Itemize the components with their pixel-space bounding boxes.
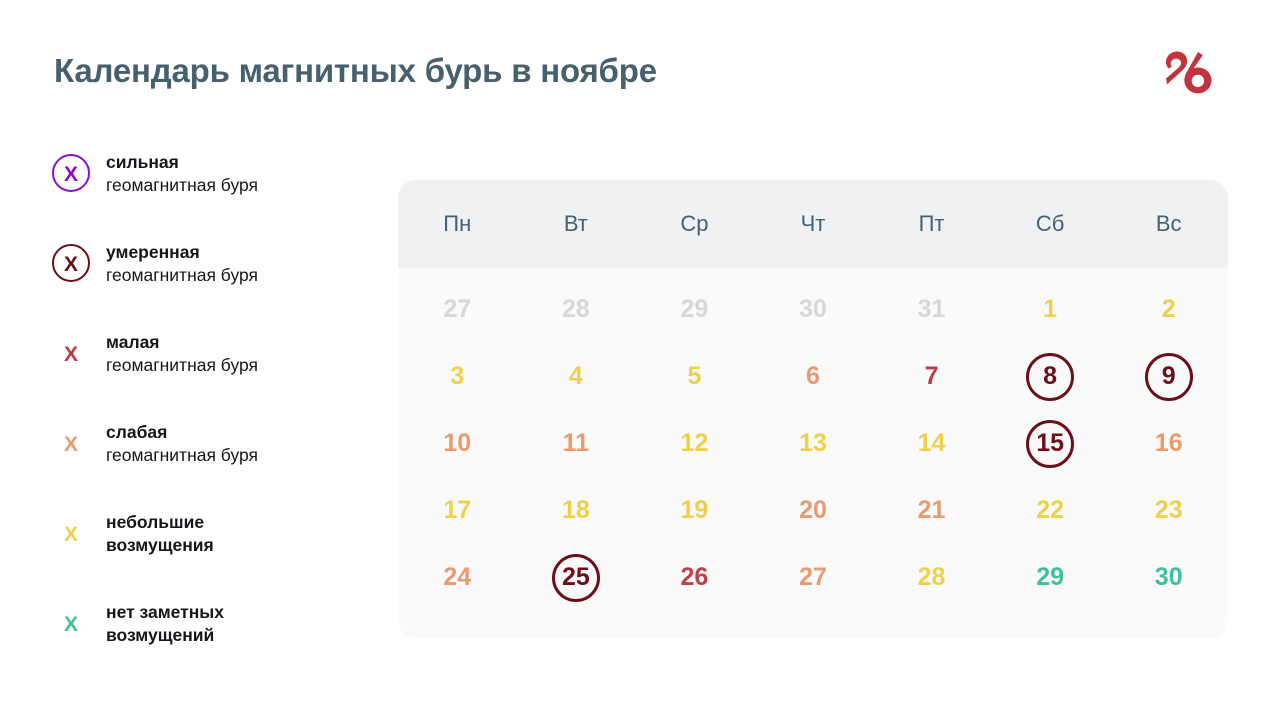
legend-subtitle: геомагнитная буря (106, 174, 258, 197)
calendar-day-cell[interactable]: 6 (754, 343, 873, 410)
calendar-day-cell[interactable]: 27 (754, 544, 873, 611)
calendar-day-cell[interactable]: 5 (635, 343, 754, 410)
legend-title: нет заметных (106, 601, 224, 624)
calendar-week-row: 3456789 (398, 343, 1228, 410)
calendar-day-cell[interactable]: 22 (991, 477, 1110, 544)
legend-marker-strong: X (50, 152, 96, 198)
calendar-day-cell[interactable]: 1 (991, 276, 1110, 343)
calendar-day-number: 5 (670, 353, 718, 401)
calendar-day-cell[interactable]: 4 (517, 343, 636, 410)
calendar-day-number: 17 (433, 487, 481, 535)
legend-label: малая геомагнитная буря (96, 330, 258, 378)
legend-x-icon: X (64, 164, 78, 185)
calendar-grid: 2728293031123456789101112131415161718192… (398, 268, 1228, 611)
legend-marker-minor: X (50, 332, 96, 378)
weekday-tue: Вт (517, 211, 636, 237)
legend-title: малая (106, 331, 258, 354)
calendar-day-number: 22 (1026, 487, 1074, 535)
calendar-day-number: 24 (433, 554, 481, 602)
calendar-day-cell[interactable]: 3 (398, 343, 517, 410)
calendar-day-number: 1 (1026, 286, 1074, 334)
calendar-weekday-header: Пн Вт Ср Чт Пт Сб Вс (398, 180, 1228, 268)
legend-title: сильная (106, 151, 258, 174)
calendar-day-cell[interactable]: 9 (1109, 343, 1228, 410)
calendar-day-number: 7 (908, 353, 956, 401)
calendar-day-number: 25 (552, 554, 600, 602)
weekday-sun: Вс (1109, 211, 1228, 237)
legend-label: умеренная геомагнитная буря (96, 240, 258, 288)
legend-subtitle: геомагнитная буря (106, 264, 258, 287)
legend-item: X умеренная геомагнитная буря (50, 240, 370, 330)
calendar-panel: Пн Вт Ср Чт Пт Сб Вс 2728293031123456789… (398, 180, 1228, 638)
legend-subtitle: возмущений (106, 624, 224, 647)
calendar-day-number: 11 (552, 420, 600, 468)
legend-subtitle: геомагнитная буря (106, 354, 258, 377)
legend-item: X нет заметных возмущений (50, 600, 370, 690)
calendar-day-number: 30 (789, 286, 837, 334)
calendar-day-number: 21 (908, 487, 956, 535)
calendar-day-number: 31 (908, 286, 956, 334)
legend-item: X сильная геомагнитная буря (50, 150, 370, 240)
calendar-day-cell[interactable]: 2 (1109, 276, 1228, 343)
calendar-day-number: 18 (552, 487, 600, 535)
calendar-day-cell[interactable]: 28 (872, 544, 991, 611)
legend-marker-weak: X (50, 422, 96, 468)
calendar-day-cell[interactable]: 11 (517, 410, 636, 477)
calendar-day-cell[interactable]: 17 (398, 477, 517, 544)
legend-x-icon: X (64, 614, 78, 635)
calendar-day-cell[interactable]: 21 (872, 477, 991, 544)
legend-label: небольшие возмущения (96, 510, 214, 558)
calendar-day-cell[interactable]: 19 (635, 477, 754, 544)
calendar-day-number: 29 (1026, 554, 1074, 602)
brand-logo-26-icon (1158, 46, 1232, 104)
legend-title: небольшие (106, 511, 214, 534)
calendar-day-cell[interactable]: 25 (517, 544, 636, 611)
calendar-day-cell[interactable]: 15 (991, 410, 1110, 477)
legend-x-icon: X (64, 344, 78, 365)
calendar-day-cell[interactable]: 8 (991, 343, 1110, 410)
calendar-week-row: 17181920212223 (398, 477, 1228, 544)
calendar-day-number: 14 (908, 420, 956, 468)
calendar-day-number: 9 (1145, 353, 1193, 401)
calendar-week-row: 24252627282930 (398, 544, 1228, 611)
calendar-day-cell[interactable]: 29 (635, 276, 754, 343)
legend-item: X малая геомагнитная буря (50, 330, 370, 420)
calendar-day-number: 15 (1026, 420, 1074, 468)
calendar-day-cell[interactable]: 14 (872, 410, 991, 477)
calendar-day-cell[interactable]: 31 (872, 276, 991, 343)
legend-item: X слабая геомагнитная буря (50, 420, 370, 510)
weekday-wed: Ср (635, 211, 754, 237)
calendar-week-row: 272829303112 (398, 276, 1228, 343)
calendar-day-cell[interactable]: 16 (1109, 410, 1228, 477)
calendar-day-cell[interactable]: 20 (754, 477, 873, 544)
calendar-day-cell[interactable]: 29 (991, 544, 1110, 611)
calendar-day-number: 13 (789, 420, 837, 468)
weekday-thu: Чт (754, 211, 873, 237)
calendar-day-number: 28 (552, 286, 600, 334)
calendar-day-cell[interactable]: 12 (635, 410, 754, 477)
calendar-day-number: 27 (433, 286, 481, 334)
calendar-day-number: 8 (1026, 353, 1074, 401)
legend-subtitle: геомагнитная буря (106, 444, 258, 467)
legend-x-icon: X (64, 254, 78, 275)
calendar-day-cell[interactable]: 10 (398, 410, 517, 477)
calendar-day-number: 2 (1145, 286, 1193, 334)
calendar-day-number: 29 (670, 286, 718, 334)
legend-marker-small: X (50, 512, 96, 558)
legend-marker-moderate: X (50, 242, 96, 288)
calendar-day-cell[interactable]: 30 (754, 276, 873, 343)
calendar-day-cell[interactable]: 18 (517, 477, 636, 544)
calendar-day-number: 16 (1145, 420, 1193, 468)
calendar-day-number: 23 (1145, 487, 1193, 535)
calendar-day-number: 27 (789, 554, 837, 602)
calendar-day-number: 19 (670, 487, 718, 535)
calendar-day-cell[interactable]: 23 (1109, 477, 1228, 544)
weekday-fri: Пт (872, 211, 991, 237)
legend-label: нет заметных возмущений (96, 600, 224, 648)
calendar-day-cell[interactable]: 26 (635, 544, 754, 611)
calendar-day-number: 26 (670, 554, 718, 602)
calendar-day-number: 3 (433, 353, 481, 401)
calendar-day-cell[interactable]: 7 (872, 343, 991, 410)
calendar-day-cell[interactable]: 13 (754, 410, 873, 477)
calendar-day-cell[interactable]: 24 (398, 544, 517, 611)
calendar-day-number: 20 (789, 487, 837, 535)
calendar-day-number: 6 (789, 353, 837, 401)
calendar-day-cell[interactable]: 27 (398, 276, 517, 343)
legend-label: сильная геомагнитная буря (96, 150, 258, 198)
calendar-day-number: 4 (552, 353, 600, 401)
weekday-mon: Пн (398, 211, 517, 237)
legend-marker-none: X (50, 602, 96, 648)
legend-item: X небольшие возмущения (50, 510, 370, 600)
calendar-day-cell[interactable]: 28 (517, 276, 636, 343)
legend-title: слабая (106, 421, 258, 444)
page-title: Календарь магнитных бурь в ноябре (54, 52, 657, 90)
legend: X сильная геомагнитная буря X умеренная … (50, 150, 370, 690)
legend-subtitle: возмущения (106, 534, 214, 557)
legend-title: умеренная (106, 241, 258, 264)
legend-label: слабая геомагнитная буря (96, 420, 258, 468)
weekday-sat: Сб (991, 211, 1110, 237)
calendar-week-row: 10111213141516 (398, 410, 1228, 477)
calendar-day-number: 10 (433, 420, 481, 468)
calendar-day-cell[interactable]: 30 (1109, 544, 1228, 611)
calendar-day-number: 30 (1145, 554, 1193, 602)
legend-x-icon: X (64, 524, 78, 545)
legend-x-icon: X (64, 434, 78, 455)
calendar-day-number: 12 (670, 420, 718, 468)
calendar-day-number: 28 (908, 554, 956, 602)
